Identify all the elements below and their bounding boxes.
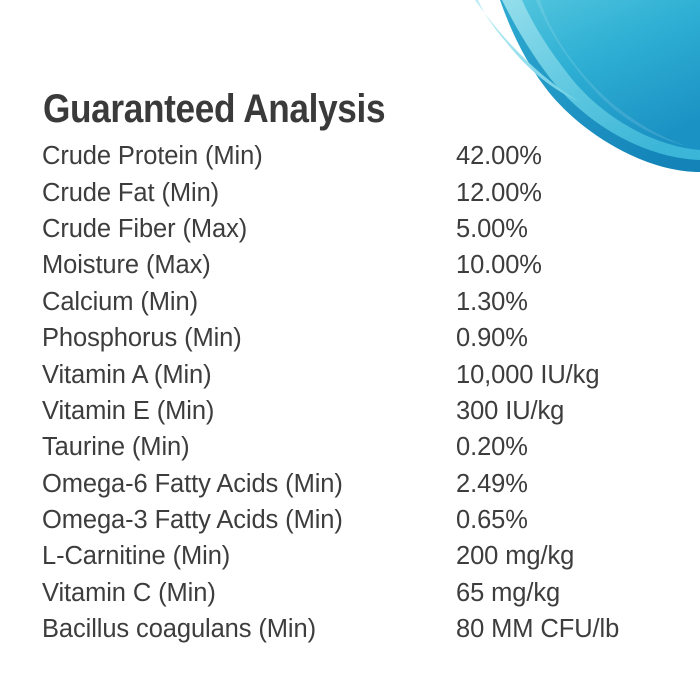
nutrient-amount: 10.00% (456, 247, 662, 283)
table-row: Vitamin E (Min) 300 IU/kg (42, 393, 662, 429)
nutrient-amount: 80 MM CFU/lb (456, 611, 662, 647)
nutrient-name: Vitamin E (Min) (42, 393, 456, 429)
nutrient-amount: 12.00% (456, 174, 662, 210)
swoosh-gloss-streak (536, 0, 686, 146)
nutrient-amount: 0.65% (456, 502, 662, 538)
nutrient-amount: 5.00% (456, 211, 662, 247)
nutrient-name: Vitamin A (Min) (42, 356, 456, 392)
table-row: Crude Fiber (Max) 5.00% (42, 211, 662, 247)
nutrient-amount: 0.90% (456, 320, 662, 356)
swoosh-main-band (502, 0, 700, 160)
nutrient-amount: 1.30% (456, 284, 662, 320)
analysis-table-body: Crude Protein (Min) 42.00% Crude Fat (Mi… (42, 138, 662, 647)
table-row: Bacillus coagulans (Min) 80 MM CFU/lb (42, 611, 662, 647)
nutrient-name: Omega-6 Fatty Acids (Min) (42, 466, 456, 502)
table-row: Calcium (Min) 1.30% (42, 284, 662, 320)
nutrient-name: Crude Fat (Min) (42, 174, 456, 210)
table-row: Omega-3 Fatty Acids (Min) 0.65% (42, 502, 662, 538)
table-row: Vitamin C (Min) 65 mg/kg (42, 575, 662, 611)
nutrient-amount: 42.00% (456, 138, 662, 174)
table-row: Phosphorus (Min) 0.90% (42, 320, 662, 356)
nutrient-name: Phosphorus (Min) (42, 320, 456, 356)
nutrient-name: Taurine (Min) (42, 429, 456, 465)
nutrient-name: Omega-3 Fatty Acids (Min) (42, 502, 456, 538)
nutrient-name: Moisture (Max) (42, 247, 456, 283)
nutrient-name: Crude Protein (Min) (42, 138, 456, 174)
swoosh-light-edge (502, 0, 700, 160)
nutrient-amount: 200 mg/kg (456, 538, 662, 574)
table-row: Crude Fat (Min) 12.00% (42, 174, 662, 210)
nutrient-amount: 65 mg/kg (456, 575, 662, 611)
table-row: Taurine (Min) 0.20% (42, 429, 662, 465)
nutrient-amount: 0.20% (456, 429, 662, 465)
table-row: Vitamin A (Min) 10,000 IU/kg (42, 356, 662, 392)
nutrient-name: Bacillus coagulans (Min) (42, 611, 456, 647)
guaranteed-analysis-panel: Guaranteed Analysis Crude Protein (Min) … (0, 0, 700, 700)
nutrient-amount: 300 IU/kg (456, 393, 662, 429)
table-row: Omega-6 Fatty Acids (Min) 2.49% (42, 466, 662, 502)
nutrient-amount: 10,000 IU/kg (456, 356, 662, 392)
table-row: Crude Protein (Min) 42.00% (42, 138, 662, 174)
table-row: Moisture (Max) 10.00% (42, 247, 662, 283)
swoosh-tip-highlight (475, 0, 580, 102)
nutrient-name: Crude Fiber (Max) (42, 211, 456, 247)
nutrient-name: Calcium (Min) (42, 284, 456, 320)
nutrient-name: L-Carnitine (Min) (42, 538, 456, 574)
nutrient-amount: 2.49% (456, 466, 662, 502)
nutrient-name: Vitamin C (Min) (42, 575, 456, 611)
page-title: Guaranteed Analysis (43, 89, 385, 129)
table-row: L-Carnitine (Min) 200 mg/kg (42, 538, 662, 574)
guaranteed-analysis-table: Crude Protein (Min) 42.00% Crude Fat (Mi… (42, 138, 662, 647)
